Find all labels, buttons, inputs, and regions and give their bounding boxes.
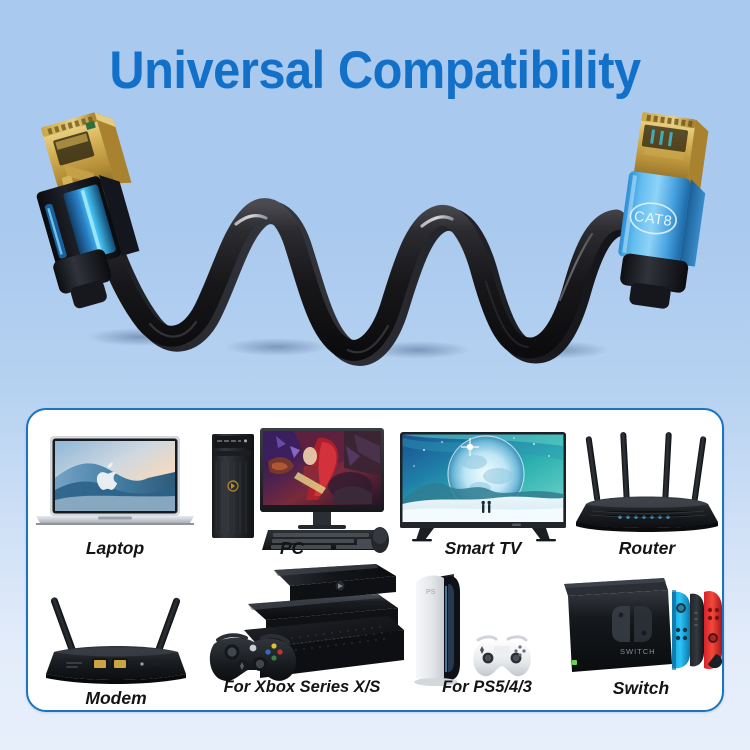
marketing-image: Universal Compatibility — [0, 0, 750, 750]
joycon-blue — [672, 590, 690, 670]
rj45-plug-right: CAT8 — [617, 112, 710, 311]
device-switch: SWITCH — [556, 560, 726, 712]
device-label: Laptop — [28, 538, 202, 559]
device-xbox: For Xbox Series X/S — [200, 560, 404, 712]
flat-cable-ribbon — [90, 204, 622, 354]
device-label: For PS5/4/3 — [402, 678, 572, 697]
svg-text:SWITCH: SWITCH — [620, 647, 656, 656]
xbox-controller-icon — [210, 635, 296, 681]
device-modem: Modem — [30, 570, 202, 712]
device-label: Router — [568, 538, 726, 559]
device-grid: Laptop — [28, 410, 722, 710]
device-label: Modem — [30, 688, 202, 709]
device-label: Switch — [556, 678, 726, 699]
svg-text:PS: PS — [426, 589, 436, 596]
product-photo: CAT8 — [0, 100, 750, 390]
device-router: Router — [568, 416, 726, 568]
device-label: PC — [194, 538, 390, 559]
device-laptop: Laptop — [28, 416, 202, 568]
joycon-red — [704, 591, 722, 669]
device-ps: PS — [402, 560, 572, 712]
device-label: For Xbox Series X/S — [200, 678, 404, 697]
antennas — [585, 432, 706, 502]
device-label: Smart TV — [394, 538, 572, 559]
device-smart-tv: Smart TV — [394, 416, 572, 568]
cable-illustration: CAT8 — [0, 100, 750, 390]
page-title: Universal Compatibility — [30, 40, 720, 101]
device-pc: PC — [194, 416, 390, 568]
compatibility-panel: Laptop — [26, 408, 724, 712]
dualsense-controller-icon — [473, 637, 531, 676]
